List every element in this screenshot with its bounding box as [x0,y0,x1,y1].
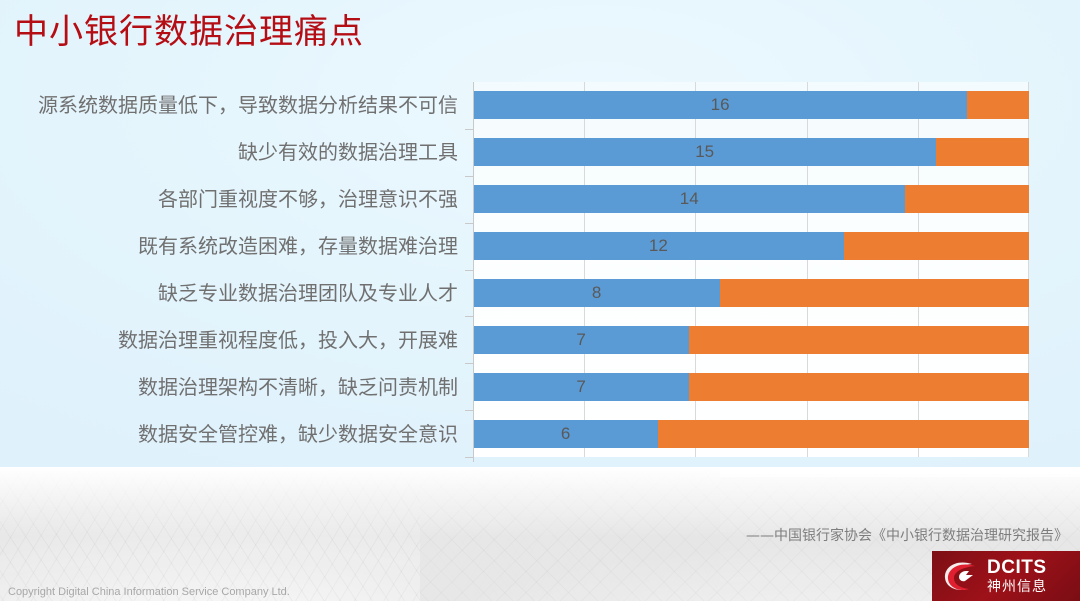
chart-bar-row: 6 [473,420,1029,448]
chart-bar-row: 15 [473,138,1029,166]
chart-bar-row: 12 [473,232,1029,260]
chart-bar-segment-secondary [905,185,1029,213]
chart-bar-row: 8 [473,279,1029,307]
chart-axis-tick [465,316,473,317]
chart-bar-row: 7 [473,326,1029,354]
chart-category-label: 数据安全管控难，缺少数据安全意识 [138,420,458,448]
chart-value-label: 7 [473,326,689,354]
chart-bar-segment-secondary [967,91,1029,119]
chart-value-axis-line [473,82,474,462]
chart-value-label: 7 [473,373,689,401]
chart-category-label: 缺乏专业数据治理团队及专业人才 [158,279,458,307]
chart-axis-tick [465,270,473,271]
chart-value-label: 6 [473,420,658,448]
chart-axis-tick [465,410,473,411]
chart-value-label: 15 [473,138,936,166]
company-logo: DCITS 神州信息 [932,551,1080,601]
chart-category-label: 各部门重视度不够，治理意识不强 [158,185,458,213]
chart-category-label: 缺少有效的数据治理工具 [238,138,458,166]
chart-bar-segment-secondary [720,279,1029,307]
chart-bar-row: 7 [473,373,1029,401]
chart-bar-segment-secondary [658,420,1029,448]
logo-text-block: DCITS 神州信息 [987,558,1047,594]
chart-category-axis: 源系统数据质量低下，导致数据分析结果不可信缺少有效的数据治理工具各部门重视度不够… [0,82,466,467]
stacked-bar-chart: 源系统数据质量低下，导致数据分析结果不可信缺少有效的数据治理工具各部门重视度不够… [0,82,1040,467]
chart-plot-area: 161514128776 [473,82,1029,457]
chart-category-label: 数据治理架构不清晰，缺乏问责机制 [138,373,458,401]
chart-value-label: 16 [473,91,967,119]
chart-bar-segment-secondary [689,373,1029,401]
chart-bar-segment-secondary [689,326,1029,354]
source-attribution: ——中国银行家协会《中小银行数据治理研究报告》 [746,525,1068,545]
logo-name-cn: 神州信息 [987,580,1047,594]
chart-category-label: 数据治理重视程度低，投入大，开展难 [118,326,458,354]
chart-bar-segment-secondary [844,232,1029,260]
chart-bar-row: 16 [473,91,1029,119]
chart-axis-tick [465,176,473,177]
chart-value-label: 14 [473,185,905,213]
chart-category-label: 既有系统改造困难，存量数据难治理 [138,232,458,260]
chart-axis-tick [465,223,473,224]
dcits-swirl-icon [942,558,982,594]
chart-axis-tick [465,363,473,364]
page-title: 中小银行数据治理痛点 [14,7,714,57]
chart-value-label: 12 [473,232,844,260]
slide-canvas: 中小银行数据治理痛点 源系统数据质量低下，导致数据分析结果不可信缺少有效的数据治… [0,0,1080,601]
chart-bar-segment-secondary [936,138,1029,166]
chart-value-label: 8 [473,279,720,307]
logo-name-en: DCITS [987,558,1047,577]
chart-category-label: 源系统数据质量低下，导致数据分析结果不可信 [38,91,458,119]
chart-axis-tick [465,129,473,130]
chart-bar-row: 14 [473,185,1029,213]
copyright-notice: Copyright Digital China Information Serv… [8,586,290,598]
chart-axis-tick [465,457,473,458]
